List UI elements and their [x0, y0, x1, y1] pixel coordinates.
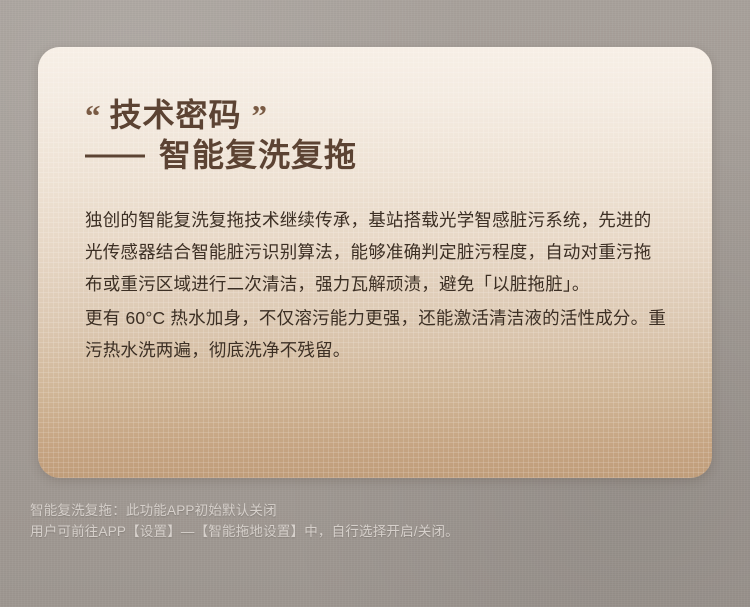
body-paragraph-one: 独创的智能复洗复拖技术继续传承，基站搭载光学智感脏污系统，先进的光传感器结合智能… [85, 204, 668, 300]
headline-title: 技术密码 [110, 99, 242, 131]
quote-close-icon: ” [252, 100, 268, 131]
em-dash-divider: —— [85, 138, 143, 169]
headline-subtitle: 智能复洗复拖 [159, 139, 357, 171]
quote-open-icon: “ [85, 100, 101, 131]
body-copy: 独创的智能复洗复拖技术继续传承，基站搭载光学智感脏污系统，先进的光传感器结合智能… [85, 204, 668, 366]
card-content: “ 技术密码 ” —— 智能复洗复拖 独创的智能复洗复拖技术继续传承，基站搭载光… [38, 47, 712, 478]
footnotes: 智能复洗复拖：此功能APP初始默认关闭 用户可前往APP【设置】—【智能拖地设置… [30, 500, 730, 542]
footnote-line-two: 用户可前往APP【设置】—【智能拖地设置】中，自行选择开启/关闭。 [30, 521, 730, 542]
headline-block: “ 技术密码 ” —— 智能复洗复拖 [85, 99, 668, 171]
body-paragraph-two: 更有 60°C 热水加身，不仅溶污能力更强，还能激活清洁液的活性成分。重污热水洗… [85, 302, 668, 366]
headline-line-secondary: —— 智能复洗复拖 [85, 139, 668, 171]
feature-card: “ 技术密码 ” —— 智能复洗复拖 独创的智能复洗复拖技术继续传承，基站搭载光… [38, 47, 712, 478]
footnote-line-one: 智能复洗复拖：此功能APP初始默认关闭 [30, 500, 730, 521]
headline-line-primary: “ 技术密码 ” [85, 99, 668, 131]
